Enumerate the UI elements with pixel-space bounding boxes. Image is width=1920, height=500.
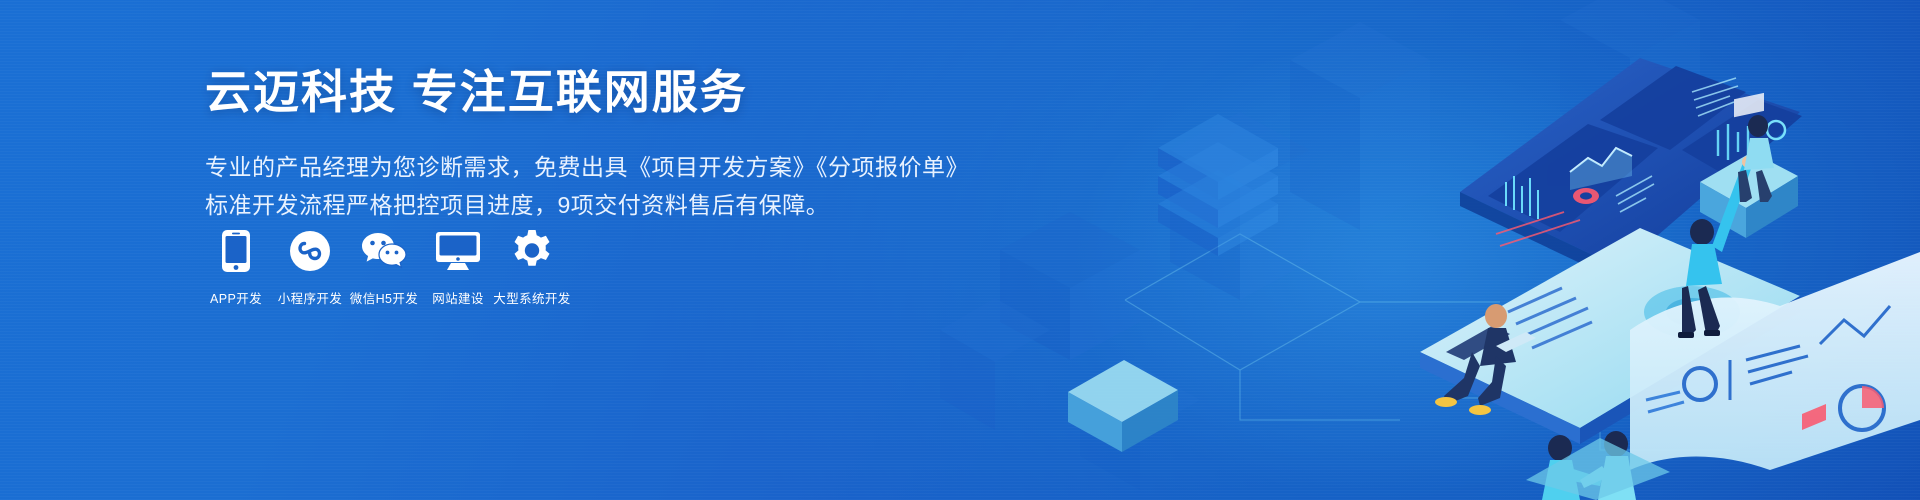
dashboard-screen <box>1460 58 1802 282</box>
hero-banner: 云迈科技 专注互联网服务 专业的产品经理为您诊断需求，免费出具《项目开发方案》《… <box>0 0 1920 500</box>
service-item-website[interactable]: 网站建设 <box>422 228 494 307</box>
banner-title: 云迈科技 专注互联网服务 <box>205 66 905 119</box>
pedestal-left <box>1068 360 1178 452</box>
person-on-box <box>1738 115 1774 202</box>
subtitle-line-2: 标准开发流程严格把控项目进度，9项交付资料售后有保障。 <box>205 187 905 223</box>
service-icon-row: APP开发 小程序开发 微信 <box>200 228 570 307</box>
subtitle-line-1: 专业的产品经理为您诊断需求，免费出具《项目开发方案》《分项报价单》 <box>205 149 905 185</box>
mini-program-icon <box>287 228 333 274</box>
banner-subtitle: 专业的产品经理为您诊断需求，免费出具《项目开发方案》《分项报价单》 标准开发流程… <box>205 149 905 224</box>
service-label-miniprogram: 小程序开发 <box>278 288 343 307</box>
service-item-system[interactable]: 大型系统开发 <box>496 228 568 307</box>
geometric-cubes <box>940 0 1880 490</box>
service-label-wechat: 微信H5开发 <box>350 288 418 307</box>
wechat-icon <box>361 228 407 274</box>
network-lines <box>1125 234 1730 450</box>
monitor-icon <box>435 228 481 274</box>
person-pointing <box>1678 156 1754 338</box>
illustration-container <box>940 0 1920 500</box>
service-item-miniprogram[interactable]: 小程序开发 <box>274 228 346 307</box>
service-label-app: APP开发 <box>210 288 262 307</box>
person-seated-laptop <box>1435 304 1536 415</box>
screen-bar-chart <box>1506 176 1538 219</box>
smartphone-platform <box>1420 228 1800 444</box>
platform-bottom <box>1526 438 1670 500</box>
banner-text-block: 云迈科技 专注互联网服务 专业的产品经理为您诊断需求，免费出具《项目开发方案》《… <box>205 66 905 226</box>
service-item-wechat[interactable]: 微信H5开发 <box>348 228 420 307</box>
mobile-phone-icon <box>213 228 259 274</box>
background-glow <box>943 0 1843 500</box>
service-label-website: 网站建设 <box>432 288 484 307</box>
gear-icon <box>509 228 555 274</box>
server-stack <box>1158 114 1278 256</box>
service-label-system: 大型系统开发 <box>493 288 570 307</box>
data-chart-sheet <box>1630 252 1920 470</box>
isometric-tech-illustration <box>940 0 1920 500</box>
person-standing-right <box>1580 431 1636 500</box>
screen-cursor-ring <box>1767 121 1785 139</box>
service-item-app[interactable]: APP开发 <box>200 228 272 307</box>
box-platform-right <box>1700 93 1798 238</box>
person-standing-left <box>1542 435 1602 500</box>
